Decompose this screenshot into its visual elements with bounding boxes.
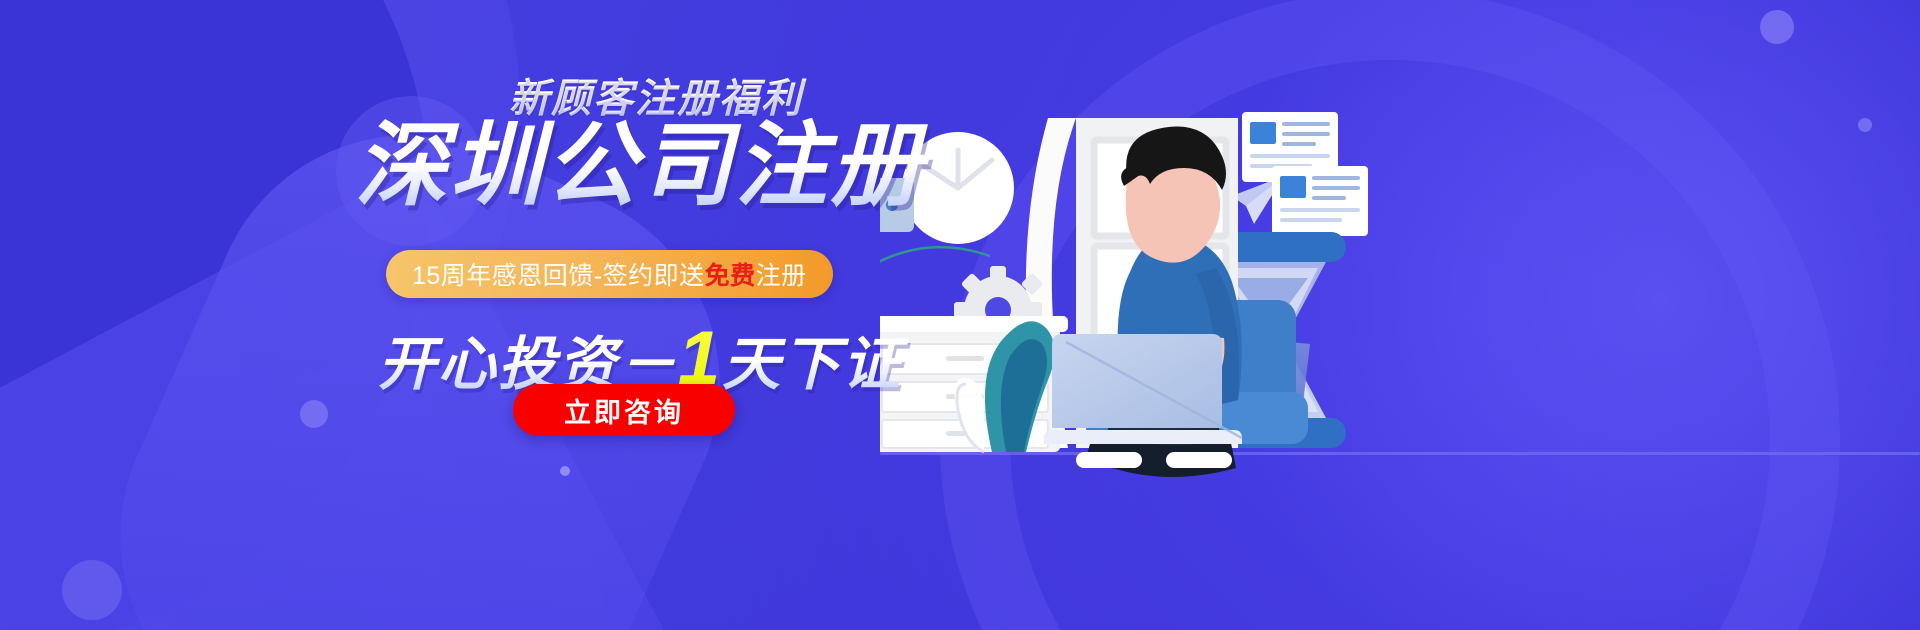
promo-banner: 新顾客注册福利 深圳公司注册 15周年感恩回馈-签约即送 免费 注册 开心投资－… [0,0,1920,630]
promo-pill-prefix: 15周年感恩回馈-签约即送 [412,256,705,292]
consult-now-label: 立即咨询 [564,391,684,430]
promo-pill-suffix: 注册 [756,256,807,292]
page-title: 深圳公司注册 [320,118,960,215]
floor-line [880,452,1920,455]
hero-illustration [880,0,1920,630]
document-cards [1242,112,1368,236]
promo-pill: 15周年感恩回馈-签约即送 免费 注册 [386,250,833,298]
promo-pill-highlight: 免费 [705,256,756,292]
laptop-icon [1044,334,1242,444]
tagline-suffix: 天下证 [722,332,902,397]
copy-block: 新顾客注册福利 深圳公司注册 15周年感恩回馈-签约即送 免费 注册 开心投资－… [0,0,960,630]
consult-now-button[interactable]: 立即咨询 [513,384,735,436]
